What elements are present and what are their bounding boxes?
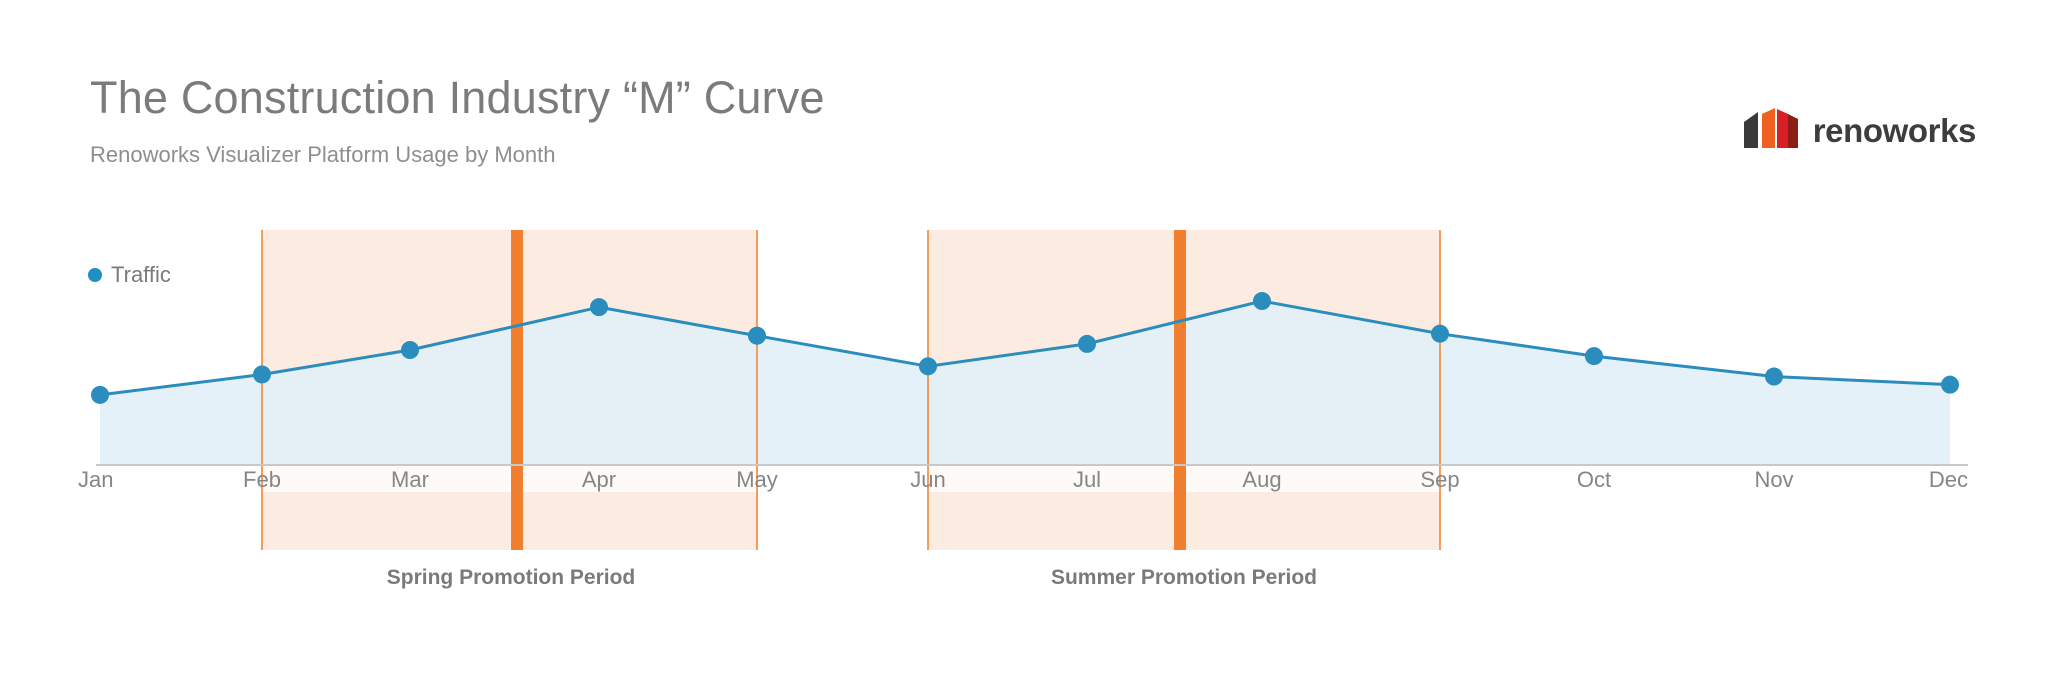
x-tick-apr: Apr	[582, 467, 616, 493]
x-tick-oct: Oct	[1577, 467, 1611, 493]
x-tick-sep: Sep	[1420, 467, 1459, 493]
x-tick-mar: Mar	[391, 467, 429, 493]
x-tick-dec: Dec	[1929, 467, 1968, 493]
chart-legend: Traffic	[88, 264, 171, 286]
chart-page: The Construction Industry “M” Curve Reno…	[0, 0, 2048, 683]
annotation-spring-promotion: Spring Promotion Period	[387, 566, 636, 590]
x-tick-jul: Jul	[1073, 467, 1101, 493]
x-tick-feb: Feb	[243, 467, 281, 493]
x-tick-aug: Aug	[1242, 467, 1281, 493]
x-tick-jan: Jan	[78, 467, 113, 493]
x-tick-may: May	[736, 467, 778, 493]
legend-marker-traffic	[88, 268, 102, 282]
chart-canvas	[0, 0, 2048, 683]
x-tick-nov: Nov	[1754, 467, 1793, 493]
x-tick-jun: Jun	[910, 467, 945, 493]
annotation-summer-promotion: Summer Promotion Period	[1051, 566, 1317, 590]
legend-label-traffic: Traffic	[111, 264, 171, 286]
